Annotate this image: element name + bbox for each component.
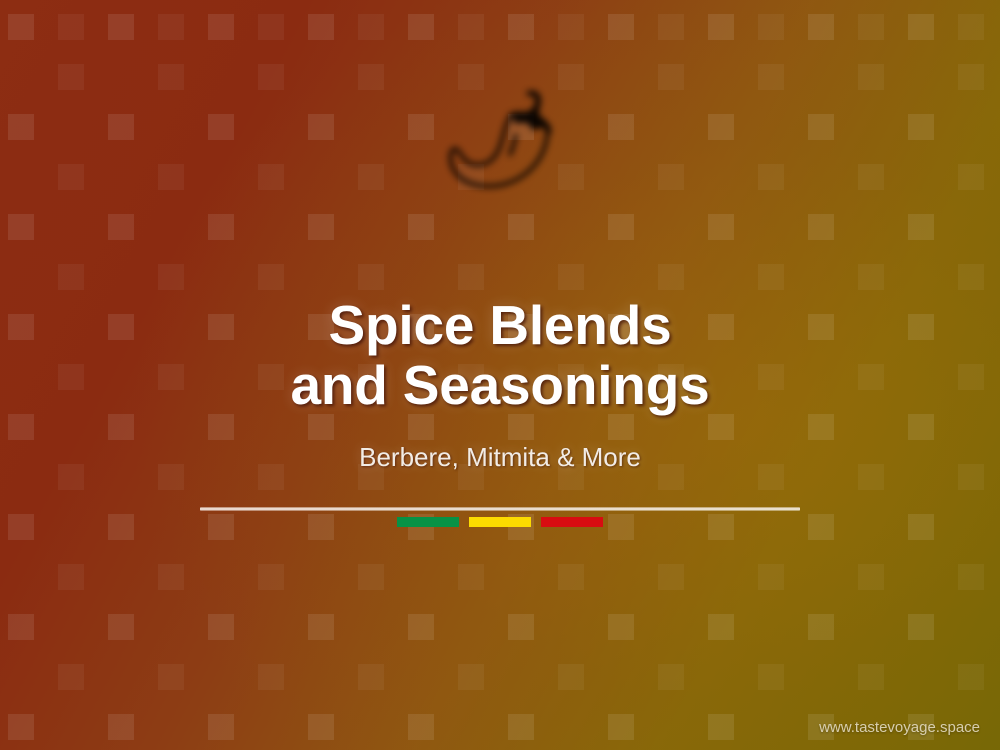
footer-website-url: www.tastevoyage.space [819,719,980,736]
chili-pepper-icon: 🌶 [0,92,1000,188]
accent-bar-yellow [469,517,531,527]
presentation-slide: 🌶 Spice Blends and Seasonings Berbere, M… [0,0,1000,750]
slide-content: Spice Blends and Seasonings Berbere, Mit… [0,296,1000,473]
accent-bar-green [397,517,459,527]
page-title-line-1: Spice Blends [0,296,1000,356]
accent-bar-red [541,517,603,527]
page-title-line-2: and Seasonings [0,356,1000,416]
title-divider [200,507,800,511]
page-subtitle: Berbere, Mitmita & More [0,442,1000,473]
accent-bar-group [0,517,1000,527]
page-title: Spice Blends and Seasonings [0,296,1000,416]
